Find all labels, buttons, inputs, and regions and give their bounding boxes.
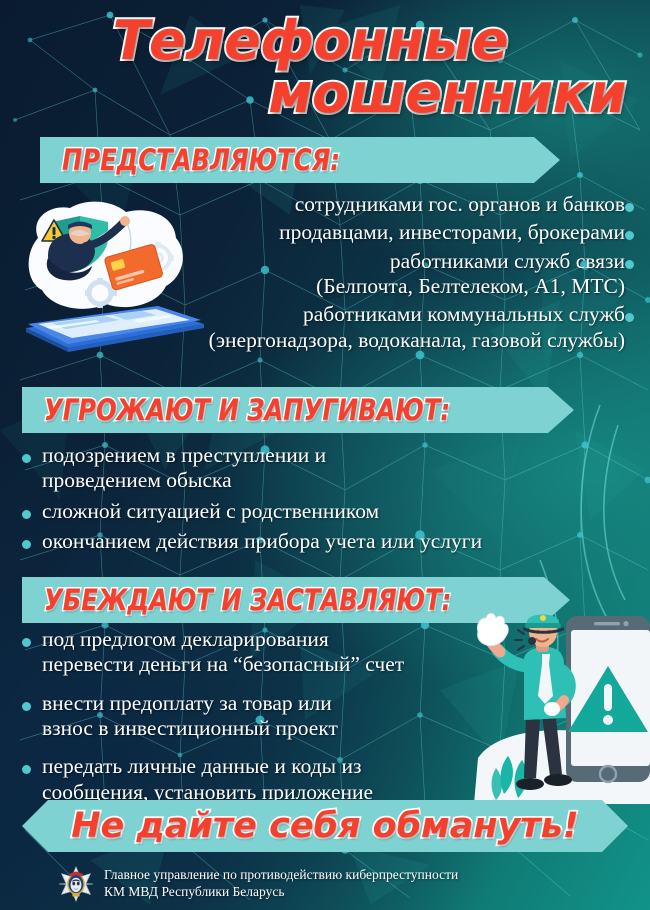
bullet-icon (22, 702, 31, 711)
list-item-text: работниками служб связи (Белпочта, Белте… (316, 249, 625, 300)
list-item-text: подозрением в преступлении и проведением… (42, 443, 326, 494)
list-item: работниками служб связи (Белпочта, Белте… (134, 249, 634, 300)
list-item: подозрением в преступлении и проведением… (22, 443, 632, 494)
list-item-text: работниками коммунальных служб (энергона… (209, 302, 625, 353)
section-list-predstavlyayutsya: сотрудниками гос. органов и банков прода… (134, 192, 634, 356)
list-item-text: внести предоплату за товар или взнос в и… (42, 691, 338, 742)
list-item-text: сложной ситуацией с родственником (42, 499, 379, 524)
poster: Телефонные мошенники ПРЕДСТАВЛЯЮТСЯ: (0, 0, 650, 910)
section-banner-ugrozhayut: УГРОЖАЮТ И ЗАПУГИВАЮТ: (22, 387, 574, 433)
footer: Главное управление по противодействию ки… (0, 858, 650, 910)
section-banner-label: УБЕЖДАЮТ И ЗАСТАВЛЯЮТ: (44, 583, 451, 617)
bullet-icon (22, 638, 31, 647)
list-item: сложной ситуацией с родственником (22, 499, 632, 524)
bullet-icon (22, 765, 31, 774)
section-list-ugrozhayut: подозрением в преступлении и проведением… (22, 443, 632, 559)
footer-text: Главное управление по противодействию ки… (104, 867, 458, 901)
list-item: продавцами, инвесторами, брокерами (134, 220, 634, 245)
title-line-1: Телефонные (0, 14, 508, 67)
list-item-text: под предлогом декларирования перевести д… (42, 627, 404, 678)
bullet-icon (625, 203, 634, 212)
bullet-icon (625, 313, 634, 322)
section-banner-label: ПРЕДСТАВЛЯЮТСЯ: (62, 143, 340, 177)
title-line-2: мошенники (0, 67, 626, 120)
list-item: внести предоплату за товар или взнос в и… (22, 691, 582, 742)
list-item: сотрудниками гос. органов и банков (134, 192, 634, 217)
call-to-action-banner: Не дайте себя обмануть! (22, 800, 628, 852)
list-item: окончанием действия прибора учета или ус… (22, 529, 632, 554)
bullet-icon (22, 510, 31, 519)
list-item: передать личные данные и коды из сообщен… (22, 754, 582, 805)
bullet-icon (625, 231, 634, 240)
section-banner-label: УГРОЖАЮТ И ЗАПУГИВАЮТ: (44, 393, 450, 427)
mvd-star-emblem-icon (58, 866, 94, 902)
section-banner-predstavlyayutsya: ПРЕДСТАВЛЯЮТСЯ: (40, 137, 560, 183)
list-item: под предлогом декларирования перевести д… (22, 627, 582, 678)
list-item: работниками коммунальных служб (энергона… (134, 302, 634, 353)
list-item-text: передать личные данные и коды из сообщен… (42, 754, 373, 805)
list-item-text: продавцами, инвесторами, брокерами (279, 220, 625, 245)
call-to-action-label: Не дайте себя обмануть! (71, 806, 579, 846)
section-list-ubezhdayut: под предлогом декларирования перевести д… (22, 627, 582, 818)
list-item-text: сотрудниками гос. органов и банков (295, 192, 625, 217)
bullet-icon (22, 540, 31, 549)
bullet-icon (625, 260, 634, 269)
poster-title: Телефонные мошенники (0, 14, 650, 121)
bullet-icon (22, 454, 31, 463)
list-item-text: окончанием действия прибора учета или ус… (42, 529, 482, 554)
